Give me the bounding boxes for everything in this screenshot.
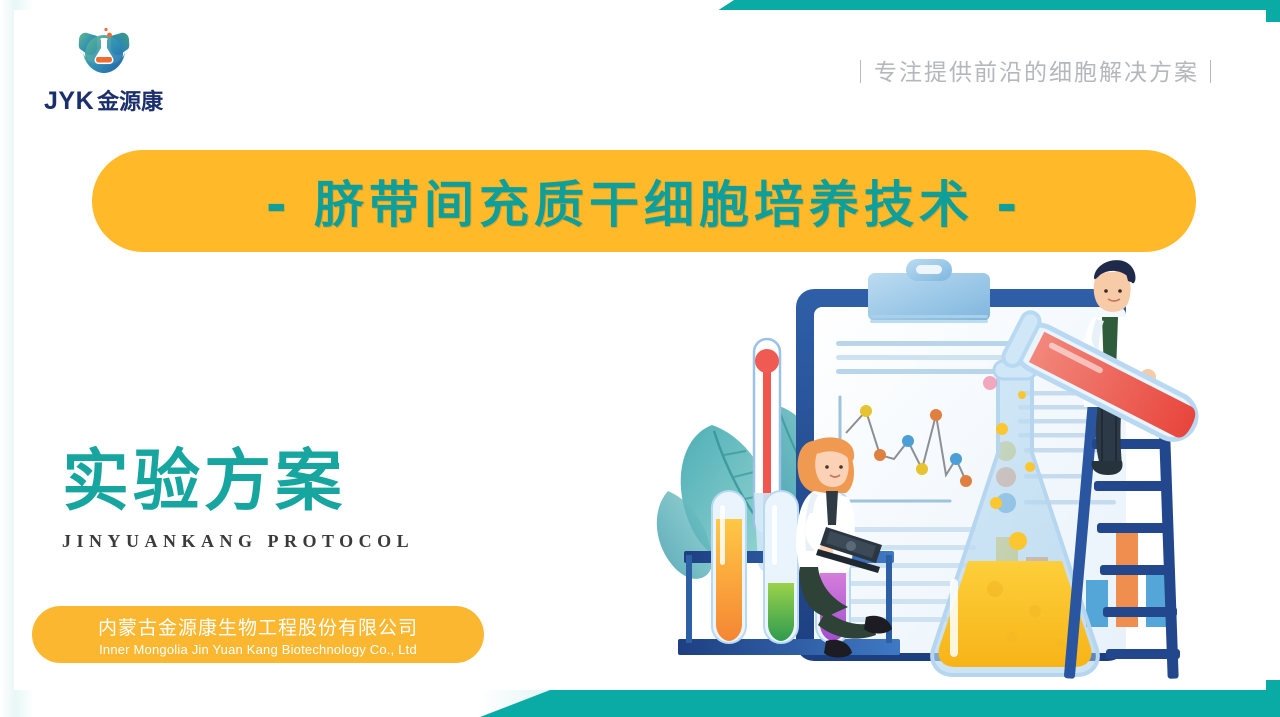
logo-wordmark-cn: 金源康 bbox=[97, 89, 163, 114]
header: JYK金源康 ｜专注提供前沿的细胞解决方案｜ bbox=[44, 22, 1224, 118]
header-tagline: ｜专注提供前沿的细胞解决方案｜ bbox=[849, 53, 1224, 87]
protocol-heading-block: 实验方案 JINYUANKANG PROTOCOL bbox=[62, 448, 414, 552]
logo-wordmark-latin: JYK bbox=[44, 87, 94, 115]
protocol-title-cn: 实验方案 bbox=[62, 448, 414, 515]
test-tube-green bbox=[764, 491, 798, 643]
company-name-pill: 内蒙古金源康生物工程股份有限公司 Inner Mongolia Jin Yuan… bbox=[32, 606, 484, 663]
company-name-cn: 内蒙古金源康生物工程股份有限公司 bbox=[98, 613, 418, 640]
logo-wordmark: JYK金源康 bbox=[44, 84, 163, 116]
page-title: - 脐带间充质干细胞培养技术 - bbox=[266, 165, 1022, 237]
protocol-title-en: JINYUANKANG PROTOCOL bbox=[62, 531, 414, 552]
test-tube-orange bbox=[712, 491, 746, 643]
flask-hexagon-logo-icon bbox=[73, 24, 135, 82]
brand-logo[interactable]: JYK金源康 bbox=[44, 24, 163, 116]
title-banner: - 脐带间充质干细胞培养技术 - bbox=[92, 150, 1196, 252]
laboratory-research-illustration bbox=[650, 255, 1220, 680]
company-name-en: Inner Mongolia Jin Yuan Kang Biotechnolo… bbox=[99, 642, 417, 657]
slide-root: JYK金源康 ｜专注提供前沿的细胞解决方案｜ - 脐带间充质干细胞培养技术 - … bbox=[0, 0, 1280, 717]
